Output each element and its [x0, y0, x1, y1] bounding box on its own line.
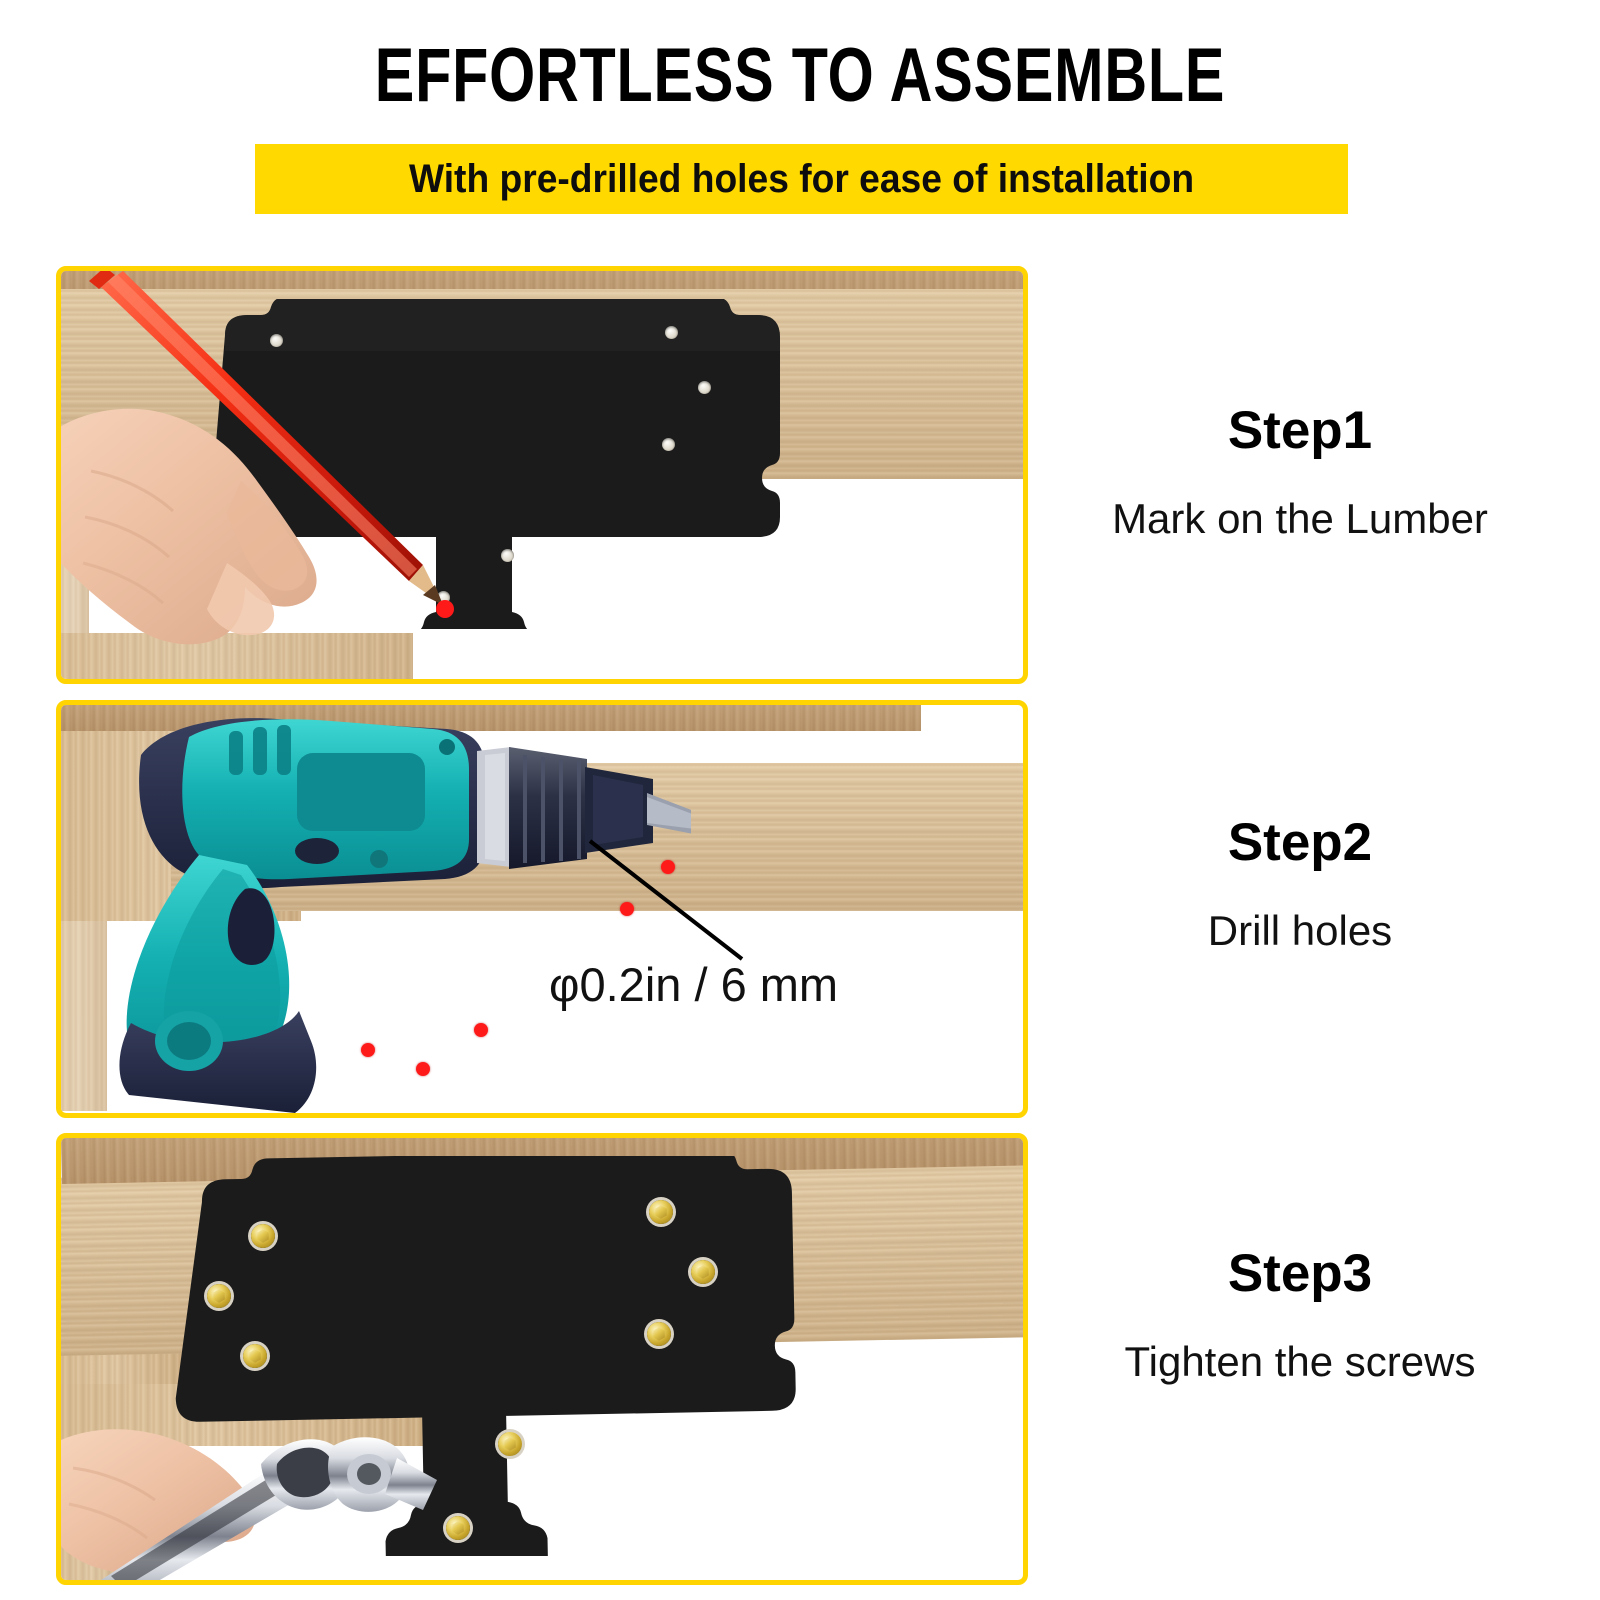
subtitle-banner: With pre-drilled holes for ease of insta… [255, 144, 1348, 214]
step-3-title: Step3 [1040, 1243, 1560, 1305]
step-2-description: Drill holes [1040, 904, 1560, 958]
step-3-label-block: Step3 Tighten the screws [1040, 1243, 1560, 1389]
bracket-hole [662, 438, 675, 451]
step-2-title: Step2 [1040, 812, 1560, 874]
step-1-title: Step1 [1040, 400, 1560, 462]
panel-1-scene [61, 271, 1023, 679]
step1-image-panel [56, 266, 1028, 684]
panel-3-scene [61, 1138, 1023, 1580]
red-pencil [71, 271, 491, 630]
page-title: EFFORTLESS TO ASSEMBLE [176, 34, 1424, 118]
panel-2-scene [61, 705, 1023, 1113]
socket-wrench [101, 1368, 521, 1580]
hole-diameter-label: φ0.2in / 6 mm [549, 957, 838, 1012]
bracket-hole [665, 326, 678, 339]
hex-bolt [243, 1344, 267, 1368]
hex-bolt [647, 1322, 671, 1346]
header: EFFORTLESS TO ASSEMBLE With pre-drilled … [0, 0, 1600, 232]
step3-image-panel [56, 1133, 1028, 1585]
callout-leader-line [586, 837, 766, 967]
hex-bolt [649, 1200, 673, 1224]
step-3-description: Tighten the screws [1040, 1335, 1560, 1389]
step2-image-panel [56, 700, 1028, 1118]
step-1-description: Mark on the Lumber [1040, 492, 1560, 546]
hex-bolt [691, 1260, 715, 1284]
bracket-hole [501, 549, 514, 562]
step-1-label-block: Step1 Mark on the Lumber [1040, 400, 1560, 546]
bracket-hole [698, 381, 711, 394]
step-2-label-block: Step2 Drill holes [1040, 812, 1560, 958]
subtitle-text: With pre-drilled holes for ease of insta… [293, 144, 1309, 214]
hex-bolt [207, 1284, 231, 1308]
hex-bolt [251, 1224, 275, 1248]
